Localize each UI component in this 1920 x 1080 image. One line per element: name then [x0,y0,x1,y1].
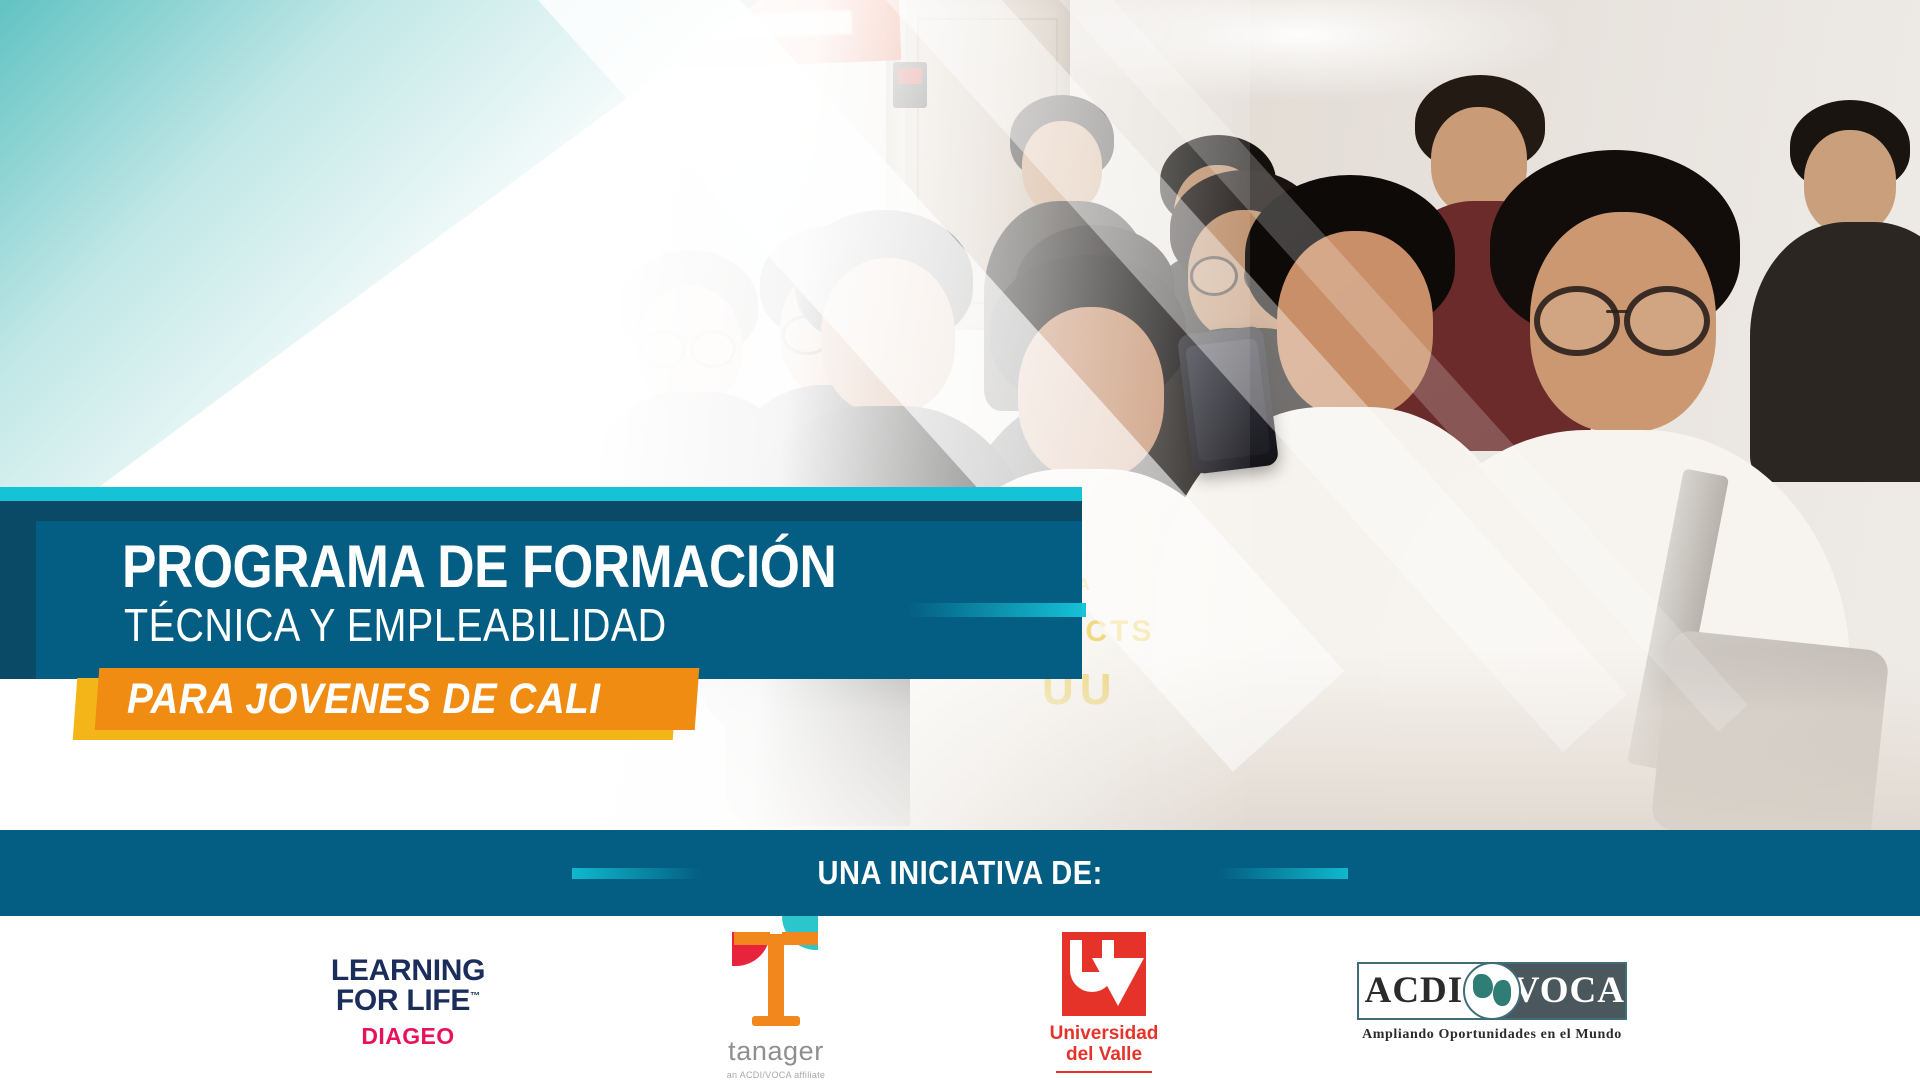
tanager-t-icon [724,924,828,1032]
wall-banner [599,0,902,72]
diageo-wordmark: DIAGEO [293,1025,523,1048]
acdivoca-wordmark: ACDI VOCA [1357,962,1627,1020]
lfl-line2: FOR LIFE™ [336,986,480,1016]
univalle-line2: del Valle [1029,1044,1179,1065]
promo-banner-image: ME QUA DUCTS UU [0,0,1920,1080]
highlight-text: PARA JOVENES DE CALI [127,675,600,723]
univalle-uv-icon [1062,932,1146,1016]
partner-logo-strip: LEARNING FOR LIFE™ DIAGEO tanager an ACD… [0,916,1920,1080]
tanager-wordmark: tanager [701,1036,851,1067]
page-subtitle: TÉCNICA Y EMPLEABILIDAD [124,601,667,649]
teal-accent-line [906,603,1086,617]
univalle-underline [1056,1071,1152,1073]
logo-tanager: tanager an ACDI/VOCA affiliate [701,924,851,1080]
rule-right-icon [1218,868,1348,879]
rule-left-icon [572,868,702,879]
title-block: PROGRAMA DE FORMACIÓN TÉCNICA Y EMPLEABI… [0,487,1082,679]
lfl-line1: LEARNING [293,956,523,986]
logo-acdi-voca: ACDI VOCA Ampliando Oportunidades en el … [1357,962,1627,1043]
univalle-line1: Universidad [1029,1023,1179,1044]
trademark-icon: ™ [470,991,480,1002]
acdivoca-tagline: Ampliando Oportunidades en el Mundo [1357,1027,1627,1043]
page-title: PROGRAMA DE FORMACIÓN [122,536,836,598]
highlight-block: PARA JOVENES DE CALI [75,668,695,734]
logo-universidad-del-valle: Universidad del Valle [1029,932,1179,1073]
initiative-label: UNA INICIATIVA DE: [817,854,1102,892]
logo-learning-for-life: LEARNING FOR LIFE™ DIAGEO [293,956,523,1048]
globe-icon [1463,962,1521,1020]
tanager-tagline: an ACDI/VOCA affiliate [701,1070,851,1080]
mobile-phone [1177,325,1279,474]
initiative-bar: UNA INICIATIVA DE: [0,830,1920,916]
wall-alarm-box [893,62,927,108]
